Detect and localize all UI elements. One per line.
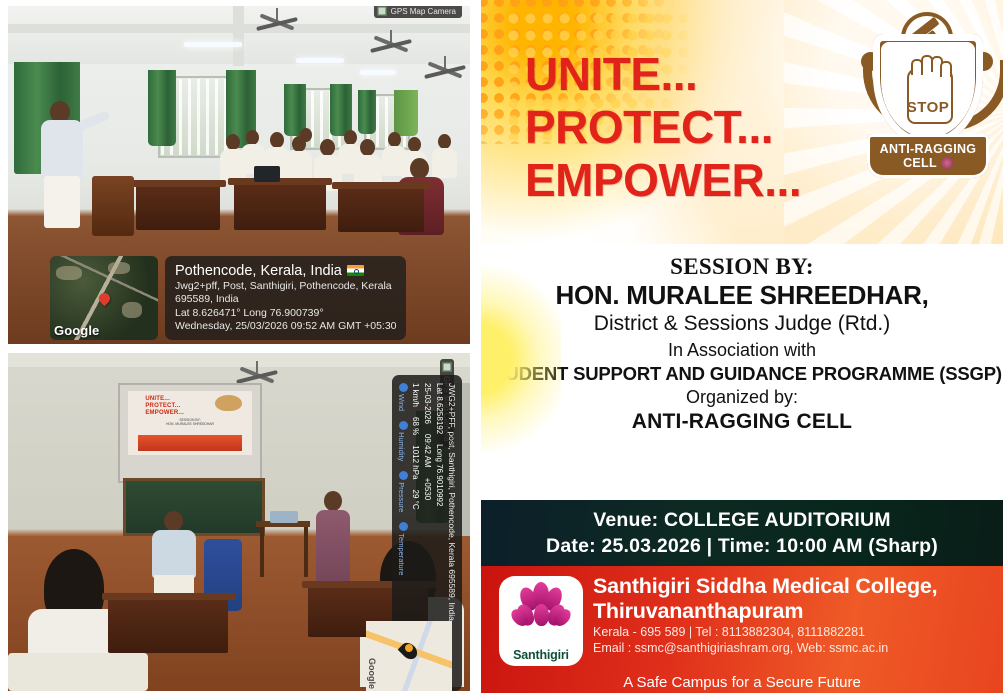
map-thumbnail[interactable]: Google <box>50 256 158 340</box>
gps-long: Long 76.9010992 <box>434 444 444 506</box>
college-contact: Kerala - 695 589 | Tel : 8113882304, 811… <box>593 624 995 640</box>
wind-icon <box>399 383 408 392</box>
venue-line: Venue: COLLEGE AUDITORIUM <box>593 508 891 532</box>
temperature-icon <box>399 522 408 531</box>
humidity-value: 68 % <box>410 417 420 435</box>
poster-tagline: A Safe Campus for a Secure Future <box>481 674 1003 692</box>
poster-hero: UNITE... PROTECT... EMPOWER... <box>481 0 1003 248</box>
photo-top: GPS Map Camera Google Pothencode, Kerala… <box>8 6 470 344</box>
gps-map-camera-badge: GPS Map Camera <box>374 6 462 18</box>
ribbon-line-2: CELL <box>903 156 937 170</box>
photo-bottom: UNITE... PROTECT... EMPOWER... SESSION B… <box>8 353 470 691</box>
ribbon-line-1: ANTI-RAGGING <box>880 142 977 156</box>
ceiling-fan-icon <box>276 8 278 24</box>
gps-timezone: +0530 <box>422 478 432 500</box>
pressure-label: Pressure <box>397 482 406 512</box>
gps-badge-label: GPS Map Camera <box>391 7 456 16</box>
gps-time: 09:42 AM <box>422 434 432 468</box>
india-flag-icon <box>347 265 364 276</box>
gps-address-line-2: 695589, India <box>175 293 397 307</box>
gps-overlay-rotated: GPS Map Camera JWG2+PFF, post, Santhigir… <box>362 353 470 691</box>
footer-text-block: Santhigiri Siddha Medical College, Thiru… <box>593 574 995 656</box>
humidity-icon <box>399 421 408 430</box>
association-label: In Association with <box>481 338 1003 362</box>
college-name-line-2: Thiruvananthapuram <box>593 599 995 624</box>
google-watermark: Google <box>54 323 99 338</box>
pressure-value: 1012 hPa <box>410 445 420 479</box>
santhigiri-wordmark: Santhigiri <box>499 648 583 662</box>
gps-lat: Lat 8.6258192 <box>434 383 444 434</box>
poster-headline: UNITE... PROTECT... EMPOWER... <box>525 48 875 207</box>
anti-ragging-cell-logo: STOP ANTI-RAGGING CELL <box>857 12 997 182</box>
ceiling-fan-icon <box>390 30 392 46</box>
session-by-label: SESSION BY: <box>481 253 1003 280</box>
projector-screen: UNITE... PROTECT... EMPOWER... SESSION B… <box>120 385 260 481</box>
organizer-name: ANTI-RAGGING CELL <box>481 409 1003 435</box>
gps-map-camera-icon <box>442 362 452 372</box>
date-time-line: Date: 25.03.2026 | Time: 10:00 AM (Sharp… <box>546 534 938 558</box>
association-name: STUDENT SUPPORT AND GUIDANCE PROGRAMME (… <box>481 362 1003 385</box>
gps-text-block: Pothencode, Kerala, India Jwg2+pff, Post… <box>165 256 406 340</box>
gps-date: 25-03-2026 <box>422 383 432 424</box>
speaker-designation: District & Sessions Judge (Rtd.) <box>481 311 1003 336</box>
headline-line-3: EMPOWER... <box>525 154 875 207</box>
shield-icon: STOP <box>873 34 983 146</box>
organized-by-label: Organized by: <box>481 385 1003 409</box>
gps-place-name: Pothencode, Kerala, India <box>175 262 342 280</box>
map-thumbnail[interactable]: Google <box>366 621 452 691</box>
gps-map-camera-icon <box>377 6 387 16</box>
college-name-line-1: Santhigiri Siddha Medical College, <box>593 574 995 599</box>
headline-line-2: PROTECT... <box>525 101 875 154</box>
ceiling-fan-icon <box>444 56 446 72</box>
gps-datetime: Wednesday, 25/03/2026 09:52 AM GMT +05:3… <box>175 320 397 334</box>
speaker-name: HON. MURALEE SHREEDHAR, <box>481 280 1003 311</box>
gps-info-card: Google Pothencode, Kerala, India Jwg2+pf… <box>50 256 406 340</box>
headline-line-1: UNITE... <box>525 48 875 101</box>
screenshot-root: GPS Map Camera Google Pothencode, Kerala… <box>0 0 1003 693</box>
wind-value: 1 km/h <box>410 383 420 407</box>
ceiling-fan-icon <box>256 361 258 377</box>
temperature-label: Temperature <box>397 533 406 575</box>
temperature-value: 29 °C <box>410 490 420 510</box>
anti-ragging-ribbon: ANTI-RAGGING CELL <box>867 134 989 178</box>
gps-coordinates: Lat 8.626471° Long 76.900739° <box>175 307 397 321</box>
poster-venue-bar: Venue: COLLEGE AUDITORIUM Date: 25.03.20… <box>481 500 1003 566</box>
event-poster: UNITE... PROTECT... EMPOWER... <box>481 0 1003 693</box>
lotus-icon <box>513 582 569 630</box>
poster-footer: Santhigiri Santhigiri Siddha Medical Col… <box>481 566 1003 693</box>
college-email-web: Email : ssmc@santhigiriashram.org, Web: … <box>593 640 995 656</box>
photo-column: GPS Map Camera Google Pothencode, Kerala… <box>0 0 470 693</box>
poster-session-block: SESSION BY: HON. MURALEE SHREEDHAR, Dist… <box>481 244 1003 494</box>
santhigiri-logo: Santhigiri <box>499 576 583 666</box>
stop-label: STOP <box>907 99 950 116</box>
pressure-icon <box>399 471 408 480</box>
blackboard <box>126 481 262 533</box>
gps-address-line-1: Jwg2+pff, Post, Santhigiri, Pothencode, … <box>175 280 397 294</box>
gps-place-row: Pothencode, Kerala, India <box>175 262 397 280</box>
wind-label: Wind <box>397 394 406 411</box>
google-watermark: Google <box>367 658 377 689</box>
india-emblem-icon <box>941 157 953 169</box>
humidity-label: Humidity <box>397 432 406 461</box>
